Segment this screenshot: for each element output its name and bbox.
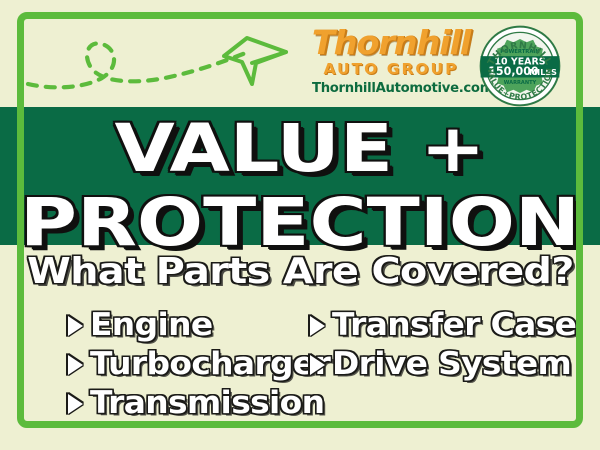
headline-line-2: PROTECTION [0, 190, 600, 256]
part-label: Drive System [332, 348, 571, 381]
triangle-bullet-icon [68, 355, 83, 375]
seal-warranty-text: WARRANTY [504, 80, 537, 86]
headline-line-1: VALUE + [0, 116, 600, 182]
dashed-flight-path-icon [24, 22, 294, 100]
list-item: Transfer Case [310, 306, 562, 345]
part-label: Transmission [90, 387, 324, 420]
triangle-bullet-icon [68, 394, 83, 414]
logo-subtitle-text: AUTO GROUP [312, 61, 470, 78]
covered-parts-right-column: Transfer Case Drive System [310, 306, 562, 384]
list-item: Engine [68, 306, 317, 345]
promo-banner: Thornhill AUTO GROUP ThornhillAutomotive… [0, 0, 600, 450]
covered-parts-lists: Engine Turbocharger Transmission Transfe… [0, 306, 600, 416]
list-item: Drive System [310, 345, 562, 384]
logo-website-url: ThornhillAutomotive.com [312, 81, 470, 96]
part-label: Engine [90, 309, 212, 342]
list-item: Turbocharger [68, 345, 317, 384]
triangle-bullet-icon [310, 355, 325, 375]
banner-header: Thornhill AUTO GROUP ThornhillAutomotive… [0, 0, 600, 107]
part-label: Transfer Case [332, 309, 576, 342]
subtitle-text: What Parts Are Covered? [27, 252, 574, 292]
thornhill-logo[interactable]: Thornhill AUTO GROUP ThornhillAutomotive… [312, 26, 470, 96]
warranty-seal-badge: POWERTRAIN 10 YEARS 150,000 MILES WARRAN… [479, 25, 561, 107]
headline-block: VALUE + PROTECTION [0, 108, 600, 256]
covered-parts-left-column: Engine Turbocharger Transmission [68, 306, 317, 423]
part-label: Turbocharger [90, 348, 330, 381]
subtitle-block: What Parts Are Covered? [0, 252, 600, 292]
list-item: Transmission [68, 384, 317, 423]
triangle-bullet-icon [68, 316, 83, 336]
logo-brand-text: Thornhill [310, 26, 471, 59]
triangle-bullet-icon [310, 316, 325, 336]
